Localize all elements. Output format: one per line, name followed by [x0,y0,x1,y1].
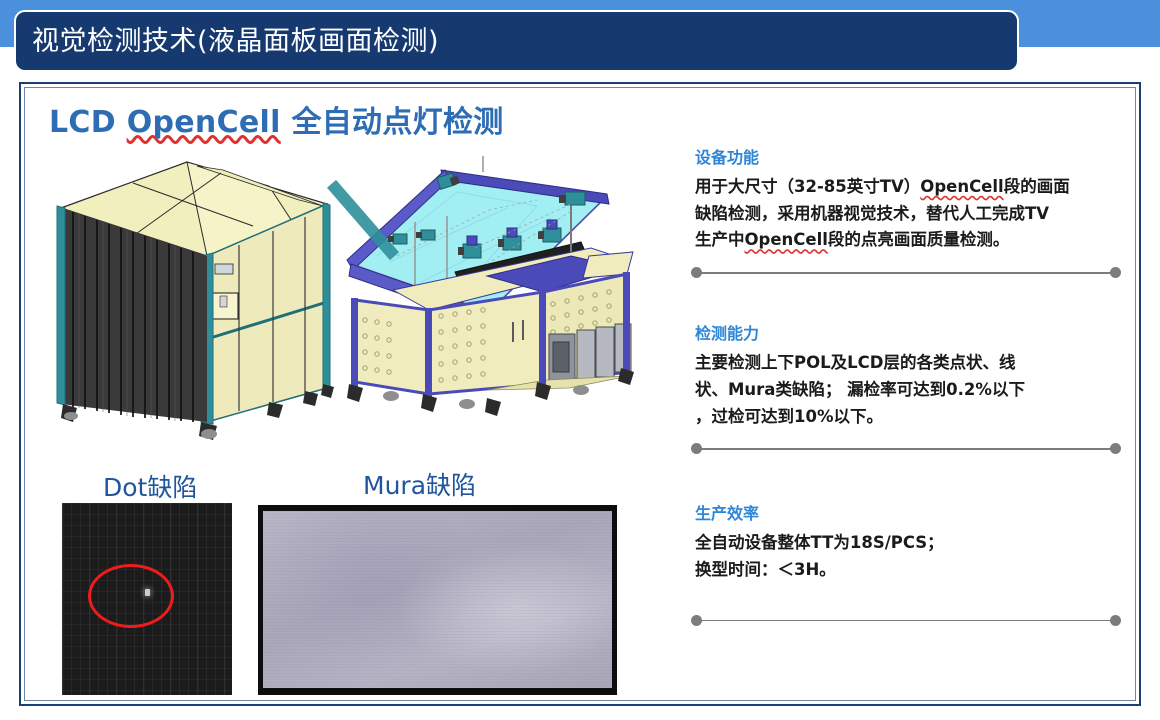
info-title: 设备功能 [695,144,1123,168]
divider-line [698,620,1114,622]
page-title-suffix: 全自动点灯检测 [281,105,504,140]
info-block-production-efficiency: 生产效率 全自动设备整体TT为18S/PCS； 换型时间：＜3H。 [689,500,1123,629]
info-block-inspection-capability: 检测能力 主要检测上下POL及LCD层的各类点状、线 状、Mura类缺陷； 漏检… [689,320,1123,458]
dot-defect-caption: Dot缺陷 [103,468,197,504]
mura-defect-caption: Mura缺陷 [363,466,476,502]
info-line: 用于大尺寸（32-85英寸TV）OpenCell段的画面 [695,174,1123,201]
content-frame: LCD OpenCell 全自动点灯检测 [19,82,1141,706]
divider-line [698,448,1114,450]
info-line: 生产中OpenCell段的点亮画面质量检测。 [695,227,1123,254]
info-body: 全自动设备整体TT为18S/PCS； 换型时间：＜3H。 [695,530,1123,583]
equipment-illustrations [31,142,671,522]
info-block-equipment-function: 设备功能 用于大尺寸（32-85英寸TV）OpenCell段的画面 缺陷检测，采… [689,144,1123,282]
section-divider [689,612,1123,630]
divider-dot-right [1110,443,1121,454]
divider-dot-right [1110,267,1121,278]
mura-defect-photo [258,505,617,695]
info-body: 用于大尺寸（32-85英寸TV）OpenCell段的画面 缺陷检测，采用机器视觉… [695,174,1123,254]
info-line: 状、Mura类缺陷； 漏检率可达到0.2%以下 [695,377,1123,404]
divider-line [698,272,1114,274]
info-line: 缺陷检测，采用机器视觉技术，替代人工完成TV [695,201,1123,228]
opencell-term: OpenCell [920,177,1003,196]
divider-dot-right [1110,615,1121,626]
info-column: 设备功能 用于大尺寸（32-85英寸TV）OpenCell段的画面 缺陷检测，采… [689,144,1123,630]
slide-title-bar: 视觉检测技术(液晶面板画面检测) [14,10,1019,72]
opencell-term: OpenCell [745,230,828,249]
section-divider [689,440,1123,458]
mura-screen-surface [263,511,612,688]
page-title-opencell: OpenCell [127,105,281,140]
red-ellipse-marker [88,564,174,628]
info-line: 主要检测上下POL及LCD层的各类点状、线 [695,350,1123,377]
section-divider [689,264,1123,282]
info-line: ，过检可达到10%以下。 [695,404,1123,431]
opencell-lighting-inspection-station [327,156,634,416]
page-title-prefix: LCD [49,105,127,140]
info-title: 检测能力 [695,320,1123,344]
page-title: LCD OpenCell 全自动点灯检测 [49,97,504,141]
info-title: 生产效率 [695,500,1123,524]
info-line: 换型时间：＜3H。 [695,557,1123,584]
dot-defect-photo [62,503,232,695]
info-body: 主要检测上下POL及LCD层的各类点状、线 状、Mura类缺陷； 漏检率可达到0… [695,350,1123,430]
slide-title: 视觉检测技术(液晶面板画面检测) [16,28,439,55]
dark-room-inspection-cabinet [57,162,334,440]
equipment-illustration-svg [31,142,671,522]
info-line: 全自动设备整体TT为18S/PCS； [695,530,1123,557]
